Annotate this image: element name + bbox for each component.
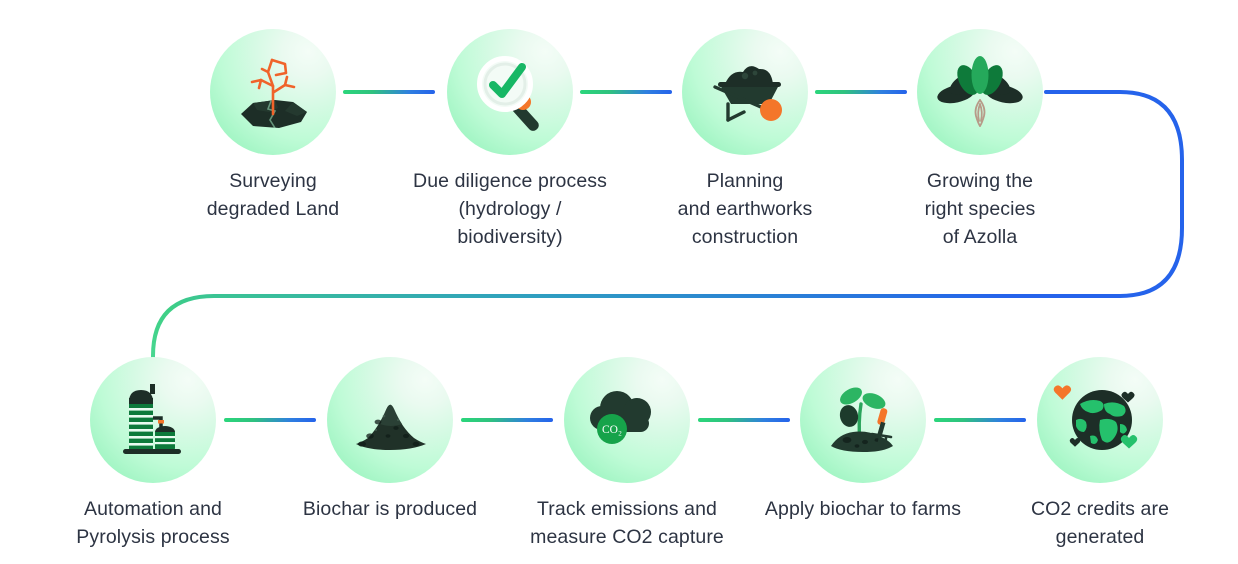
step-label-9: CO2 credits are generated (960, 495, 1238, 551)
biochar-pile-icon (327, 357, 453, 483)
connector-step8-step9 (934, 418, 1026, 422)
step-node-6[interactable]: Biochar is produced (327, 357, 453, 483)
step-node-5[interactable]: Automation and Pyrolysis process (90, 357, 216, 483)
process-flow-diagram: Surveying degraded Land Due diligence pr… (0, 0, 1238, 564)
heart-orange (1054, 385, 1071, 399)
globe-hearts-icon (1037, 357, 1163, 483)
connector-step6-step7 (461, 418, 553, 422)
azolla-plant-icon (917, 29, 1043, 155)
step-node-4[interactable]: Growing the right species of Azolla (917, 29, 1043, 155)
connector-step1-step2 (343, 90, 435, 94)
co2-badge-text: CO₂ (602, 424, 622, 436)
heart-green (1121, 435, 1137, 448)
step-node-2[interactable]: Due diligence process (hydrology / biodi… (447, 29, 573, 155)
heart-dark-bottom (1070, 438, 1081, 447)
connector-step7-step8 (698, 418, 790, 422)
wheelbarrow-icon (682, 29, 808, 155)
pyrolysis-reactor-icon (90, 357, 216, 483)
step-label-4: Growing the right species of Azolla (840, 167, 1120, 251)
connector-step5-step6 (224, 418, 316, 422)
magnifier-check-icon (447, 29, 573, 155)
step-node-3[interactable]: Planning and earthworks construction (682, 29, 808, 155)
connector-step2-step3 (580, 90, 672, 94)
co2-cloud-icon: CO₂ (564, 357, 690, 483)
step-node-9[interactable]: CO2 credits are generated (1037, 357, 1163, 483)
connector-step3-step4 (815, 90, 907, 94)
step-node-7[interactable]: CO₂ Track emissions and measure CO2 capt… (564, 357, 690, 483)
seedling-soil-rake-icon (800, 357, 926, 483)
dead-tree-on-cracked-land-icon (210, 29, 336, 155)
step-node-8[interactable]: Apply biochar to farms (800, 357, 926, 483)
step-node-1[interactable]: Surveying degraded Land (210, 29, 336, 155)
